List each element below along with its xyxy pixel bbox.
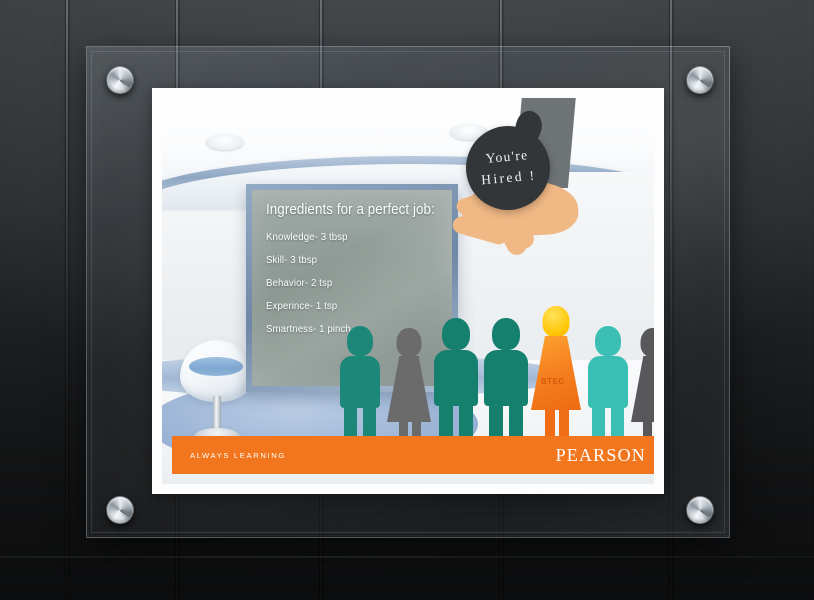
standoff-bottom-right: [686, 496, 714, 524]
pearson-logo: PEARSON: [556, 445, 646, 466]
figure-female-gray-1: [386, 326, 432, 454]
figure-torso: [484, 350, 528, 406]
screen-text-block: Ingredients for a perfect job: Knowledge…: [266, 202, 444, 346]
figure-female-orange-btec: BTEC: [530, 314, 582, 454]
ingredient-item: Knowledge- 3 tbsp: [266, 231, 430, 243]
ceiling-light: [206, 134, 244, 150]
tagline: ALWAYS LEARNING: [190, 451, 286, 460]
standoff-top-left: [106, 66, 134, 94]
figure-torso: [434, 350, 478, 406]
figure-head-highlighted: [543, 306, 570, 337]
ingredient-item: Experince- 1 tsp: [266, 300, 430, 312]
speech-line-2: Hired !: [480, 166, 537, 192]
standoff-bottom-left: [106, 496, 134, 524]
speech-bubble: You're Hired !: [466, 126, 550, 210]
egg-chair: [180, 340, 254, 448]
btec-badge: BTEC: [541, 377, 564, 386]
figure-male-lightteal: [586, 326, 630, 454]
wall-seam: [66, 0, 68, 600]
screen-title: Ingredients for a perfect job:: [266, 202, 430, 218]
figure-head: [641, 328, 655, 357]
figure-head: [442, 318, 470, 350]
figure-dress: [531, 336, 581, 410]
figure-head: [595, 326, 621, 356]
poster-artwork: Ingredients for a perfect job: Knowledge…: [162, 98, 654, 484]
figure-head: [397, 328, 422, 357]
figure-male-teal-1: [338, 326, 382, 454]
pearson-banner: ALWAYS LEARNING PEARSON: [172, 436, 654, 474]
figure-head: [492, 318, 520, 350]
figure-female-gray-2: [630, 326, 654, 454]
speech-bubble-text: You're Hired !: [462, 122, 553, 213]
chair-cushion: [189, 357, 243, 376]
wall-scene: Ingredients for a perfect job: Knowledge…: [0, 0, 814, 600]
figure-head: [347, 326, 373, 356]
figure-torso: [588, 356, 628, 408]
figure-dress: [631, 356, 654, 422]
figure-male-teal-3: [482, 318, 530, 454]
ingredient-item: Behavior- 2 tsp: [266, 277, 430, 289]
figure-torso: [340, 356, 380, 408]
ingredient-item: Skill- 3 tbsp: [266, 254, 430, 266]
figure-male-teal-2: [432, 318, 480, 454]
wall-seam-horizontal: [0, 556, 814, 558]
standoff-top-right: [686, 66, 714, 94]
figure-dress: [387, 356, 431, 422]
pearson-poster: Ingredients for a perfect job: Knowledge…: [152, 88, 664, 494]
